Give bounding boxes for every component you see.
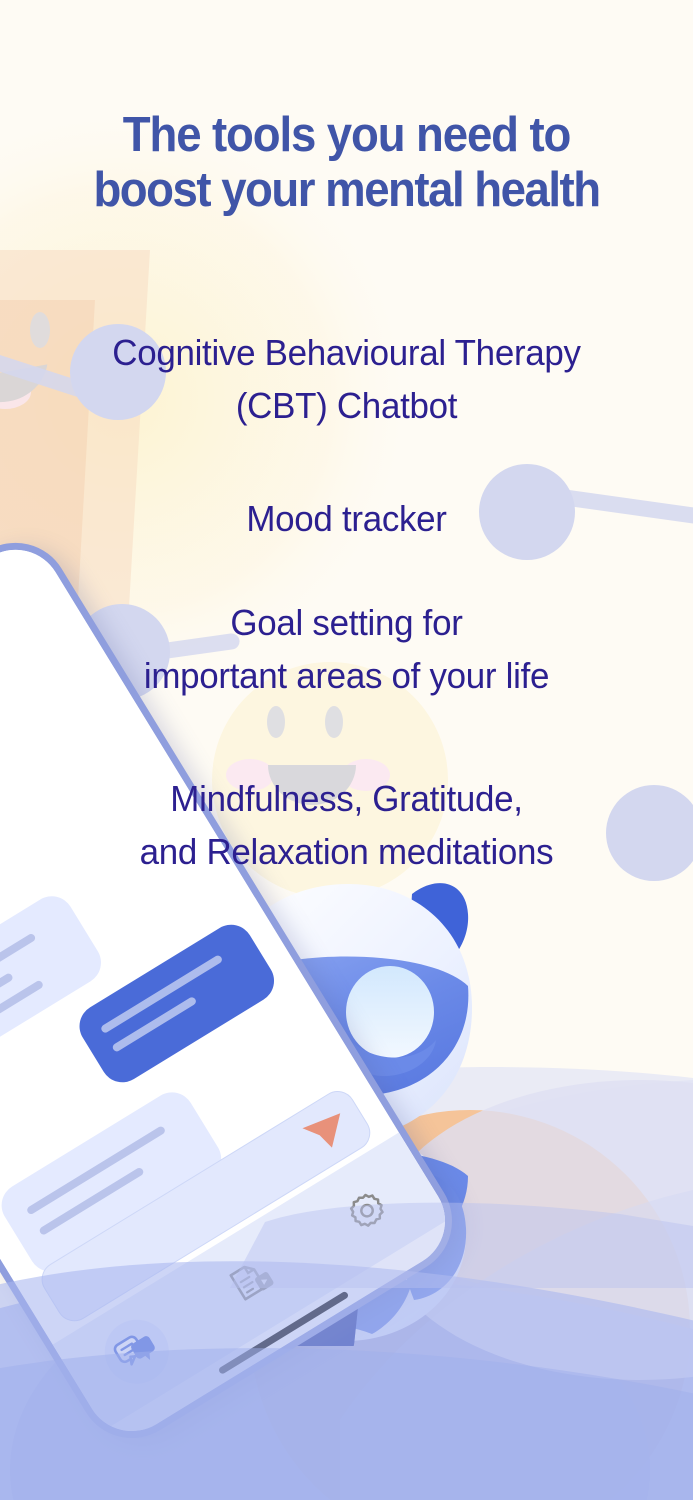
feature-item-meditations: Mindfulness, Gratitude, and Relaxation m… — [10, 772, 682, 879]
headline-line-2: boost your mental health — [24, 163, 668, 218]
feature-3-line-2: important areas of your life — [144, 655, 549, 696]
page-title: The tools you need to boost your mental … — [24, 108, 668, 218]
headline-line-1: The tools you need to — [123, 108, 570, 162]
feature-4-line-2: and Relaxation meditations — [140, 831, 554, 872]
feature-item-mood-tracker: Mood tracker — [10, 492, 682, 545]
feature-1-line-2: (CBT) Chatbot — [236, 385, 457, 426]
feature-2-line-1: Mood tracker — [246, 498, 446, 539]
app-store-feature-screenshot: The tools you need to boost your mental … — [0, 0, 693, 1500]
feature-item-goal-setting: Goal setting for important areas of your… — [10, 596, 682, 703]
feature-4-line-1: Mindfulness, Gratitude, — [170, 778, 522, 819]
text-content-layer: The tools you need to boost your mental … — [0, 0, 693, 1500]
feature-1-line-1: Cognitive Behavioural Therapy — [112, 332, 580, 373]
feature-3-line-1: Goal setting for — [230, 602, 462, 643]
feature-item-cbt-chatbot: Cognitive Behavioural Therapy (CBT) Chat… — [10, 326, 682, 433]
